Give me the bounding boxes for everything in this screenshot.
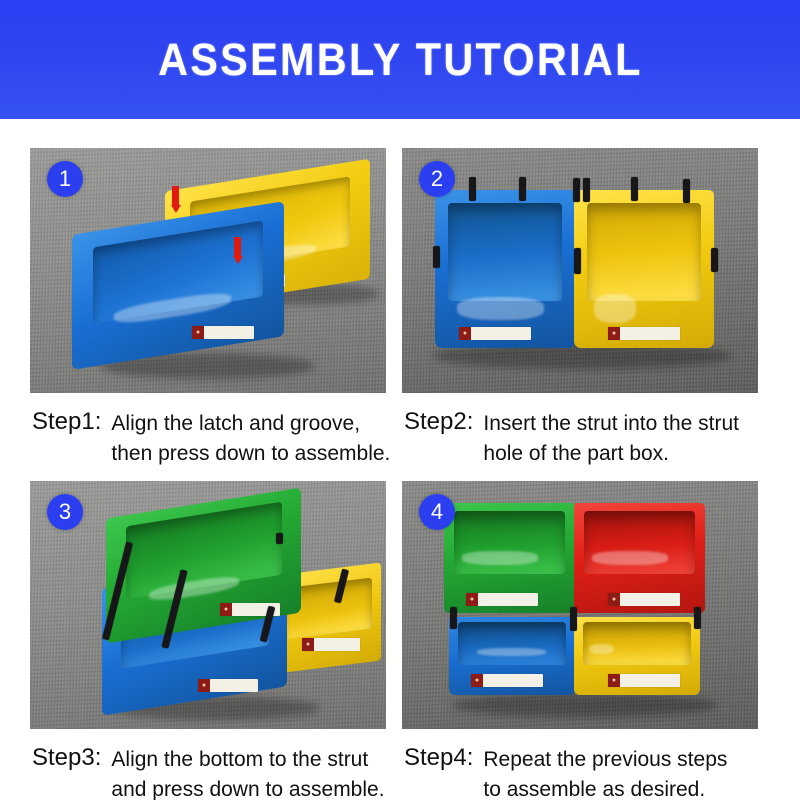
step-1-caption: Step1: Align the latch and groove, then … [30,393,386,473]
bin-gloss [594,294,636,322]
step-3-line-2: and press down to assemble. [111,775,384,800]
brand-logo-icon: ● [198,679,210,692]
bin-cavity [454,511,564,575]
strut [450,607,457,629]
step-3-photo: 3 ● ● [30,481,386,729]
step-4-caption: Step4: Repeat the previous steps to asse… [402,729,758,800]
steps-grid: 1 ● [30,148,758,800]
bin-green: ● [444,503,575,613]
brand-logo-icon: ● [466,593,478,606]
brand-logo-icon: ● [608,674,620,687]
step-2-line-1: Insert the strut into the strut [483,409,739,439]
brand-logo-icon: ● [220,603,232,616]
step-4-photo: 4 ● ● [402,481,758,729]
step-1-line-2: then press down to assemble. [111,439,390,469]
bin-red: ● [574,503,705,613]
bin-gloss [592,551,668,564]
bin-yellow: ● [574,617,700,695]
tutorial-page: ASSEMBLY TUTORIAL 1 ● [0,0,800,800]
strut [276,533,283,544]
strut [573,178,580,202]
strut [469,177,476,201]
step-2-text: Insert the strut into the strut hole of … [483,407,739,469]
brand-logo-icon: ● [302,638,314,651]
strut [574,248,581,274]
step-1: 1 ● [30,148,386,473]
bin-label-card: ● [466,593,538,606]
step-3: 3 ● ● [30,481,386,800]
page-title: ASSEMBLY TUTORIAL [158,37,643,82]
strut [583,178,590,202]
bin-cavity [458,622,566,666]
step-4-badge: 4 [419,494,455,530]
step-2-caption: Step2: Insert the strut into the strut h… [402,393,758,473]
strut [631,177,638,201]
brand-logo-icon: ● [608,593,620,606]
strut [433,246,440,268]
bin-label-card: ● [608,327,680,340]
brand-logo-icon: ● [192,326,204,339]
bin-blue: ● [435,190,575,348]
bin-gloss [589,644,614,655]
step-1-text: Align the latch and groove, then press d… [111,407,390,469]
step-4-line-1: Repeat the previous steps [483,745,727,775]
step-2: 2 ● ● [402,148,758,473]
step-4: 4 ● ● [402,481,758,800]
bin-label-card: ● [471,674,543,687]
bin-cavity [587,203,702,301]
step-1-line-1: Align the latch and groove, [111,409,390,439]
step-3-badge: 3 [47,494,83,530]
step-1-label: Step1: [32,407,111,437]
bin-blue: ● [449,617,575,695]
step-4-line-2: to assemble as desired. [483,775,727,800]
bin-label-card: ● [459,327,531,340]
bin-label-card: ● [608,593,680,606]
press-down-arrow-icon [232,237,243,264]
bin-label-card: ● [302,638,360,651]
floor-shadow [452,693,717,717]
step-4-text: Repeat the previous steps to assemble as… [483,743,727,800]
strut [711,248,718,272]
step-2-badge: 2 [419,161,455,197]
step-3-line-1: Align the bottom to the strut [111,745,384,775]
step-4-label: Step4: [404,743,483,773]
header-banner: ASSEMBLY TUTORIAL [0,0,800,119]
step-1-photo: 1 ● [30,148,386,393]
press-down-arrow-icon [170,186,181,213]
bin-blue: ● [72,218,284,353]
step-1-badge: 1 [47,161,83,197]
bin-label-card: ● [608,674,680,687]
step-3-label: Step3: [32,743,111,773]
bin-label-card: ● [192,326,254,339]
step-3-text: Align the bottom to the strut and press … [111,743,384,800]
step-2-photo: 2 ● ● [402,148,758,393]
bin-label-card: ● [198,679,258,692]
bin-cavity [584,511,694,575]
bin-yellow: ● [574,190,714,348]
step-3-caption: Step3: Align the bottom to the strut and… [30,729,386,800]
step-2-line-2: hole of the part box. [483,439,739,469]
strut [694,607,701,629]
brand-logo-icon: ● [459,327,471,340]
brand-logo-icon: ● [471,674,483,687]
bin-gloss [462,551,538,564]
bin-gloss [477,648,546,656]
bin-cavity [448,203,563,301]
strut [683,179,690,203]
step-2-label: Step2: [404,407,483,437]
brand-logo-icon: ● [608,327,620,340]
strut [570,607,577,631]
bin-gloss [457,297,544,319]
strut [519,177,526,201]
